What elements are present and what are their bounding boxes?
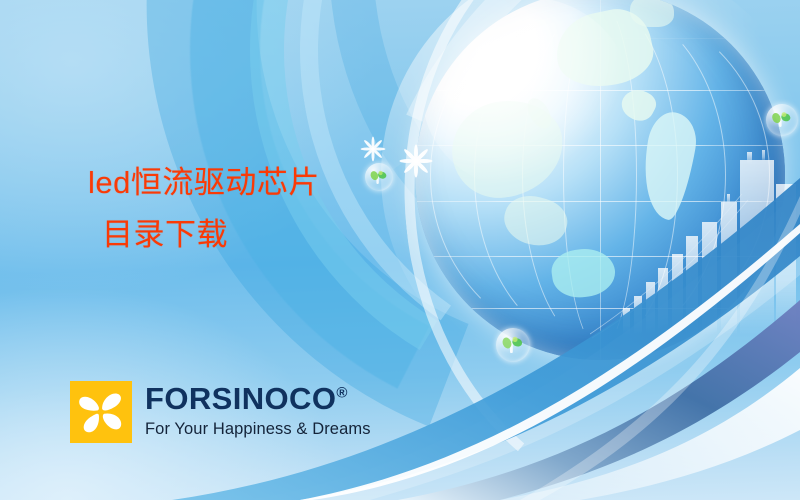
logo-text-block: FORSINOCO® For Your Happiness & Dreams: [145, 381, 371, 438]
promo-banner: led恒流驱动芯片 目录下载 FORSINOCO® For Your Happi…: [0, 0, 800, 500]
landmass-greenland: [630, 0, 674, 27]
logo-wordmark: FORSINOCO®: [145, 383, 371, 414]
logo-tagline: For Your Happiness & Dreams: [145, 421, 371, 438]
headline-line-2: 目录下载: [88, 215, 320, 255]
globe-sphere: [415, 0, 785, 360]
logo-wordmark-text: FORSINOCO: [145, 381, 336, 416]
globe-illustration: [415, 0, 785, 360]
headline-line-1: led恒流驱动芯片: [88, 163, 320, 203]
headline-line-1-latin: led: [88, 165, 131, 200]
forsinoco-pinwheel-mark: [70, 381, 132, 443]
pinwheel-icon: [70, 381, 132, 443]
forsinoco-logo[interactable]: FORSINOCO® For Your Happiness & Dreams: [70, 381, 371, 443]
flower-spark-left: [360, 136, 386, 162]
plant-bubble-left: [365, 163, 393, 191]
headline: led恒流驱动芯片 目录下载: [88, 163, 320, 256]
registered-trademark-symbol: ®: [336, 385, 347, 402]
sprout-icon: [365, 163, 393, 191]
headline-line-1-cjk: 恒流驱动芯片: [131, 165, 320, 201]
